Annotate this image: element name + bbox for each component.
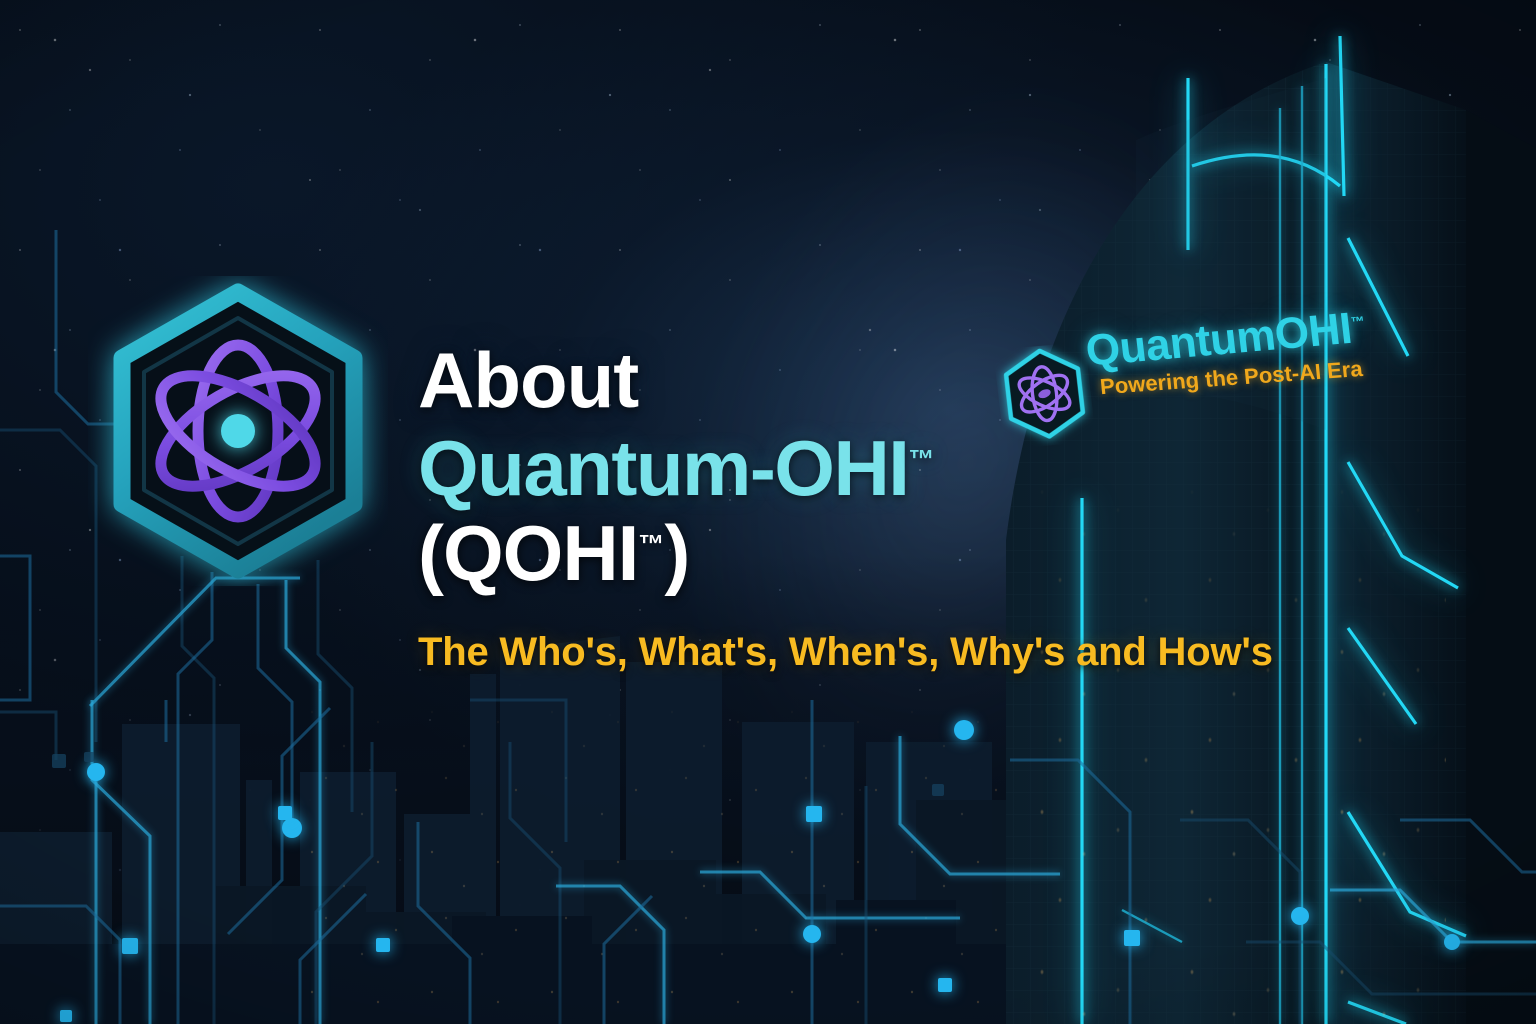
- headline-line-about: About: [418, 342, 1368, 418]
- headline-block: About Quantum-OHI™ (QOHI™) The Who's, Wh…: [418, 342, 1368, 673]
- headline-brand-text: Quantum-OHI: [418, 424, 908, 512]
- headline-abbr-open: (QOHI: [418, 509, 638, 597]
- headline-brand-tm: ™: [908, 444, 934, 474]
- headline-line-brand: Quantum-OHI™: [418, 430, 1368, 506]
- signage-brand-tm: ™: [1350, 313, 1366, 330]
- qohi-logo-mark: [88, 276, 388, 586]
- headline-abbr-close: ): [664, 509, 689, 597]
- headline-line-abbreviation: (QOHI™): [418, 515, 1368, 591]
- headline-abbr-tm: ™: [638, 529, 664, 559]
- hero-scene: QuantumOHI™ Powering the Post-AI Era Abo…: [0, 0, 1536, 1024]
- headline-subtitle: The Who's, What's, When's, Why's and How…: [418, 631, 1368, 673]
